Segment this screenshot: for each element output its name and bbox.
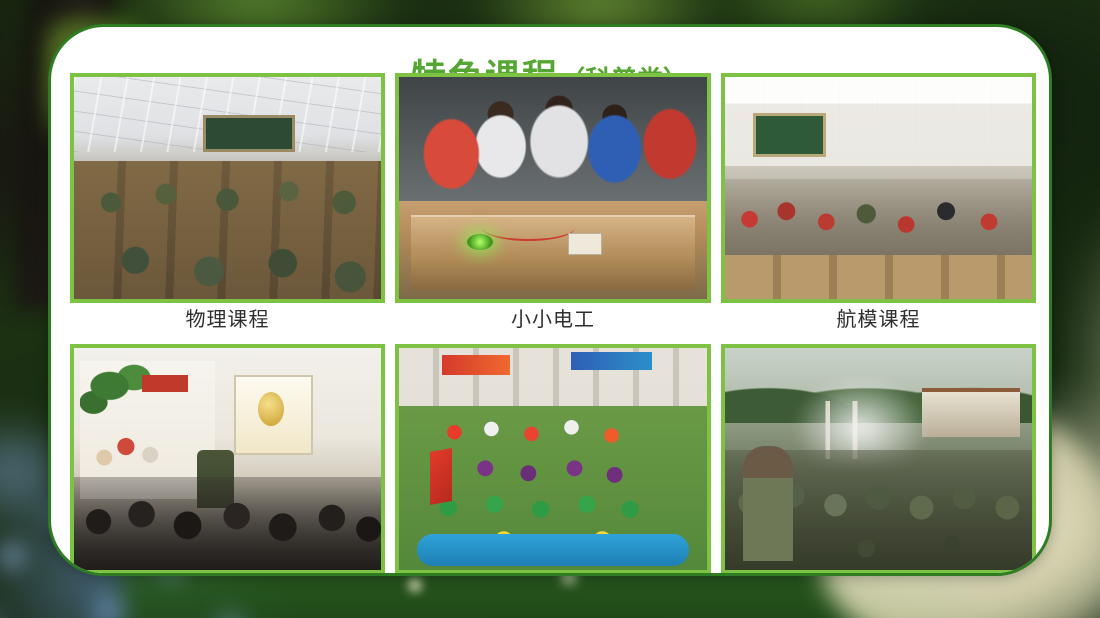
gallery-row: 物理课程 小小电工 xyxy=(70,73,1036,337)
photo-image xyxy=(74,77,381,299)
photo-physics-classroom[interactable] xyxy=(70,73,385,303)
photo-image xyxy=(399,348,707,570)
photo-model-aircraft[interactable] xyxy=(721,73,1036,303)
gallery-row: 制作松花皮蛋 旱地龙舟 xyxy=(70,344,1036,576)
photo-image xyxy=(725,348,1032,570)
audience-shape xyxy=(74,477,381,570)
photo-caption: 航模课程 xyxy=(721,303,1036,337)
photo-dryland-dragon-boat[interactable] xyxy=(395,344,711,574)
mural-title-shape xyxy=(142,375,188,393)
gallery-cell[interactable]: 小小电工 xyxy=(395,73,711,337)
photo-caption: 物理课程 xyxy=(70,303,385,337)
dragon-boat-shape xyxy=(417,534,688,565)
photo-image xyxy=(399,77,707,299)
gallery-cell[interactable]: 航模课程 xyxy=(721,73,1036,337)
photo-field-cooking[interactable] xyxy=(721,344,1036,574)
yellow-equipment-shape xyxy=(154,228,182,248)
photo-gallery: 物理课程 小小电工 xyxy=(70,73,1036,576)
photo-image xyxy=(725,77,1032,299)
photo-caption: 旱地龙舟 xyxy=(395,574,711,576)
glowing-led-shape xyxy=(467,234,493,250)
red-banner-shape xyxy=(442,355,510,375)
foreground-person-shape xyxy=(743,446,792,561)
photo-caption: 小小电工 xyxy=(395,303,711,337)
photo-century-egg-making[interactable] xyxy=(70,344,385,574)
red-flag-shape xyxy=(430,448,452,505)
photo-little-electrician[interactable] xyxy=(395,73,711,303)
chalkboard-shape xyxy=(753,113,827,157)
gallery-cell[interactable]: 制作松花皮蛋 xyxy=(70,344,385,576)
chalkboard-shape xyxy=(203,115,295,153)
building-shape xyxy=(922,388,1020,437)
gallery-cell[interactable]: 埋锅造饭 xyxy=(721,344,1036,576)
photo-image xyxy=(74,348,381,570)
photo-caption: 埋锅造饭 xyxy=(721,574,1036,576)
content-card: 特色课程（科普类） 物理课程 xyxy=(48,24,1052,576)
blue-banner-shape xyxy=(571,352,651,370)
gallery-cell[interactable]: 旱地龙舟 xyxy=(395,344,711,576)
background-light-spot xyxy=(404,574,426,596)
gallery-cell[interactable]: 物理课程 xyxy=(70,73,385,337)
photo-caption: 制作松花皮蛋 xyxy=(70,574,385,576)
desks-shape xyxy=(725,255,1032,299)
electronics-box-shape xyxy=(568,233,602,255)
